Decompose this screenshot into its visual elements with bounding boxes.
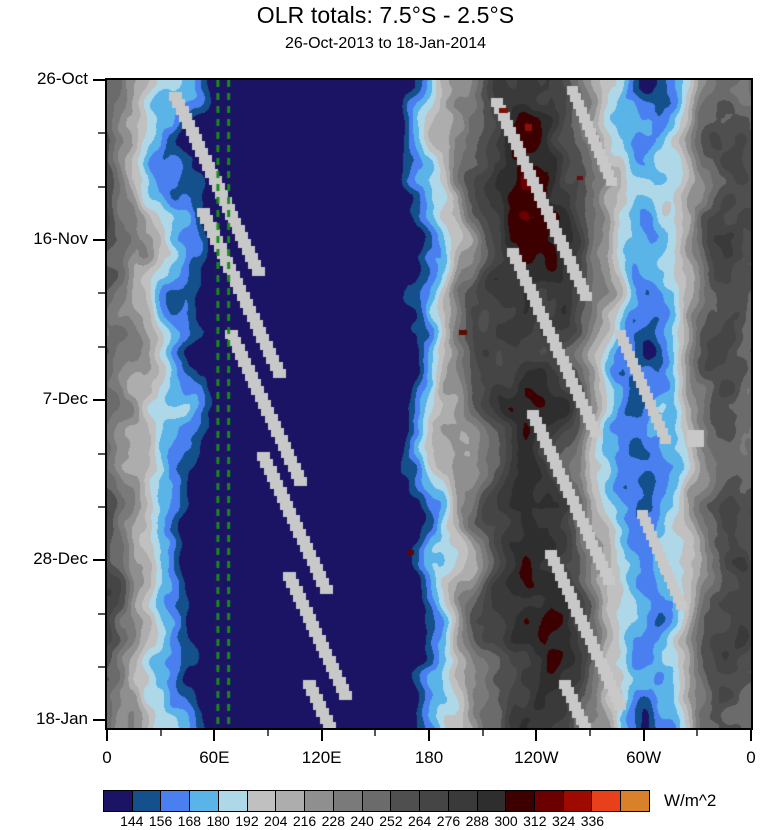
colorbar-swatch (247, 791, 276, 811)
x-axis-minor-tick (482, 730, 484, 736)
x-axis-tick-label: 0 (67, 748, 147, 768)
y-axis-tick-label: 16-Nov (0, 229, 88, 249)
colorbar-swatch (189, 791, 218, 811)
colorbar-swatch (304, 791, 333, 811)
x-axis-tick-label: 60W (604, 748, 684, 768)
x-axis-major-tick (428, 730, 430, 741)
x-axis-minor-tick (267, 730, 269, 736)
x-axis-major-tick (106, 730, 108, 741)
y-axis-tick-label: 26-Oct (0, 69, 88, 89)
y-axis-tick-label: 7-Dec (0, 389, 88, 409)
y-axis-tick-label: 28-Dec (0, 549, 88, 569)
x-axis-major-tick (321, 730, 323, 741)
page-title: OLR totals: 7.5°S - 2.5°S (0, 2, 771, 29)
y-axis-major-tick (93, 239, 105, 241)
colorbar-swatch (419, 791, 448, 811)
x-axis-tick-label: 60E (174, 748, 254, 768)
y-axis-major-tick (93, 719, 105, 721)
x-axis-tick-label: 120W (496, 748, 576, 768)
x-axis-minor-tick (374, 730, 376, 736)
x-axis-minor-tick (589, 730, 591, 736)
x-axis-major-tick (535, 730, 537, 741)
colorbar-swatch (477, 791, 506, 811)
x-axis-tick-label: 120E (282, 748, 362, 768)
chart-subtitle: 26-Oct-2013 to 18-Jan-2014 (0, 35, 771, 53)
colorbar-swatch (132, 791, 161, 811)
olr-heatmap-canvas (107, 80, 751, 728)
y-axis-minor-tick (98, 666, 105, 668)
colorbar-swatch (218, 791, 247, 811)
colorbar-swatch (591, 791, 620, 811)
colorbar-swatch (333, 791, 362, 811)
x-axis-major-tick (213, 730, 215, 741)
plot-area (105, 78, 753, 730)
y-axis-minor-tick (98, 613, 105, 615)
x-axis-minor-tick (160, 730, 162, 736)
colorbar-swatch (390, 791, 419, 811)
y-axis-minor-tick (98, 132, 105, 134)
colorbar[interactable] (103, 790, 650, 812)
y-axis-major-tick (93, 399, 105, 401)
colorbar-swatch (160, 791, 189, 811)
y-axis-minor-tick (98, 292, 105, 294)
y-axis-minor-tick (98, 453, 105, 455)
colorbar-swatch (534, 791, 563, 811)
colorbar-swatch (563, 791, 592, 811)
colorbar-swatch (505, 791, 534, 811)
x-axis-major-tick (750, 730, 752, 741)
colorbar-swatch (275, 791, 304, 811)
y-axis-tick-label: 18-Jan (0, 709, 88, 729)
x-axis-tick-label: 180 (389, 748, 469, 768)
colorbar-tick-label: 336 (572, 813, 612, 829)
colorbar-swatch (448, 791, 477, 811)
hovmoller-figure: OLR totals: 7.5°S - 2.5°S 26-Oct-2013 to… (0, 0, 771, 830)
x-axis-minor-tick (696, 730, 698, 736)
y-axis-minor-tick (98, 506, 105, 508)
y-axis-minor-tick (98, 186, 105, 188)
x-axis-major-tick (643, 730, 645, 741)
x-axis-tick-label: 0 (711, 748, 771, 768)
colorbar-unit-label: W/m^2 (664, 791, 716, 811)
colorbar-swatch (104, 791, 132, 811)
y-axis-major-tick (93, 559, 105, 561)
y-axis-major-tick (93, 79, 105, 81)
colorbar-swatch (362, 791, 391, 811)
y-axis-minor-tick (98, 346, 105, 348)
colorbar-swatch (620, 791, 649, 811)
